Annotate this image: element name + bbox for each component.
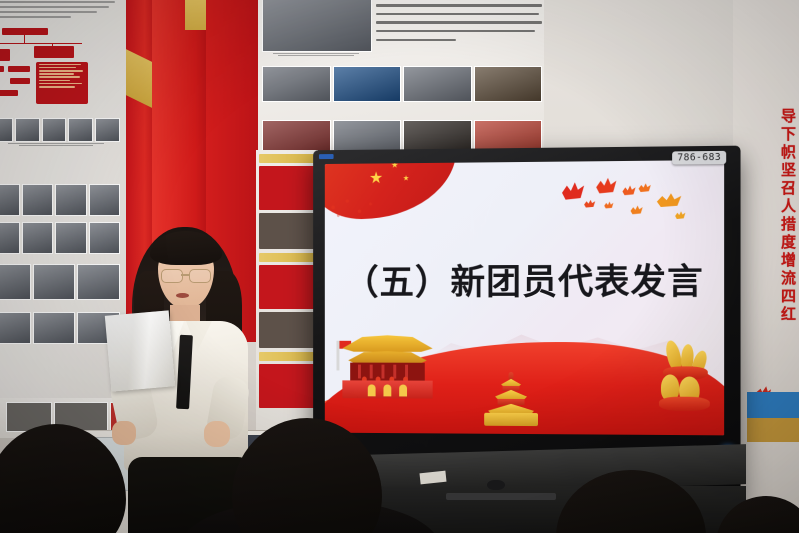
keyboard[interactable]	[446, 493, 556, 500]
strip-photo-1	[259, 213, 315, 249]
tiananmen-graphic	[340, 335, 434, 401]
presentation-slide: （五）新团员代表发言	[325, 160, 724, 435]
flagpole-icon	[337, 341, 340, 371]
board-left-photo-row-3	[0, 222, 120, 254]
temple-of-heaven-graphic	[482, 372, 540, 426]
strip-card-1	[259, 166, 315, 210]
wall-shelf-gold	[747, 418, 799, 442]
wall-shelf-blue	[747, 392, 799, 418]
watermark-badge: 786-683	[672, 151, 726, 165]
exhibition-board-top	[258, 0, 544, 166]
board-left-content	[0, 0, 120, 416]
computer-mouse[interactable]	[487, 480, 505, 490]
exhibition-board-strip	[256, 150, 318, 450]
display-screen[interactable]: （五）新团员代表发言	[325, 160, 724, 435]
wall-vertical-calligraphy: 导下帜坚召人措度增流四红	[737, 108, 797, 324]
org-chart-diagram	[0, 28, 118, 110]
glasses-right-lens	[189, 269, 211, 283]
power-led-icon	[319, 154, 334, 159]
board-left-paragraph	[0, 0, 116, 24]
board-top-paragraph	[376, 0, 542, 47]
board-left-photo-row-1	[0, 118, 120, 142]
board-left-photo-row-5	[0, 312, 120, 344]
board-left-photo-row-4	[0, 264, 120, 300]
speech-paper	[105, 310, 175, 391]
strip-section-header-3	[259, 352, 315, 361]
strip-section-header-2	[259, 253, 315, 262]
strip-section-header-1	[259, 154, 315, 163]
photo-scene: 导下帜坚召人措度增流四红 786-683 Hisense ✕	[0, 0, 799, 533]
hand-left	[112, 421, 136, 445]
board-top-portrait-row-1	[262, 66, 542, 102]
hand-right	[204, 421, 230, 447]
slide-title: （五）新团员代表发言	[325, 254, 724, 306]
flag-spray-graphic	[325, 195, 384, 221]
glasses-bridge	[181, 274, 189, 276]
doves-graphic	[556, 176, 708, 229]
mouth	[176, 293, 189, 298]
strip-card-3	[259, 364, 315, 408]
strip-card-2	[259, 265, 315, 309]
caption-row-1	[0, 142, 116, 147]
glasses-left-lens	[161, 269, 183, 283]
golden-flower-graphic	[657, 340, 716, 413]
board-left-photo-row-2	[0, 184, 120, 216]
strip-photo-2	[259, 312, 315, 348]
